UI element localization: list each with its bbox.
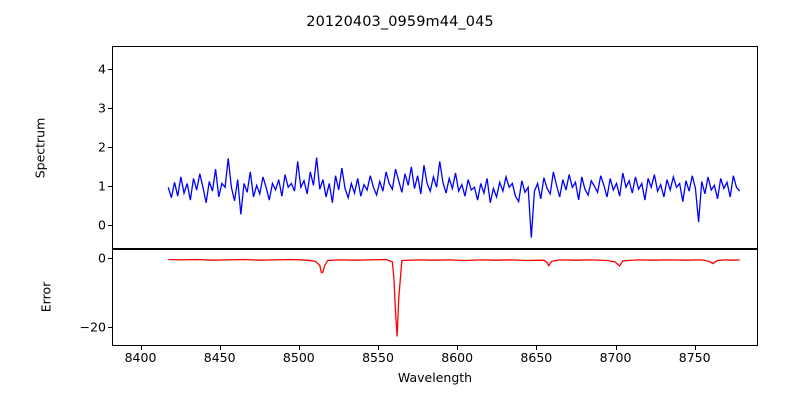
y-tick-mark	[108, 147, 112, 148]
spectrum-panel	[112, 46, 758, 249]
y-tick-label: 4	[66, 61, 106, 76]
y-tick-mark	[108, 108, 112, 109]
y-tick-label: 1	[66, 178, 106, 193]
y-tick-label: 3	[66, 100, 106, 115]
x-tick-mark	[220, 346, 221, 350]
error-axis-label: Error	[39, 282, 54, 312]
x-tick-label: 8700	[600, 350, 632, 365]
y-tick-mark	[108, 327, 112, 328]
y-tick-label: 0	[66, 250, 106, 265]
y-tick-label: 2	[66, 139, 106, 154]
figure-title: 20120403_0959m44_045	[0, 14, 800, 30]
x-tick-label: 8450	[204, 350, 236, 365]
y-tick-mark	[108, 186, 112, 187]
y-tick-mark	[108, 69, 112, 70]
y-tick-mark	[108, 225, 112, 226]
y-tick-mark	[108, 258, 112, 259]
x-tick-mark	[457, 346, 458, 350]
x-tick-mark	[141, 346, 142, 350]
error-panel	[112, 249, 758, 346]
x-tick-label: 8650	[520, 350, 552, 365]
x-tick-label: 8600	[441, 350, 473, 365]
x-tick-mark	[299, 346, 300, 350]
x-tick-label: 8750	[679, 350, 711, 365]
x-tick-label: 8550	[362, 350, 394, 365]
x-tick-mark	[536, 346, 537, 350]
spectrum-axis-label: Spectrum	[33, 118, 48, 179]
x-tick-mark	[616, 346, 617, 350]
y-tick-label: 0	[66, 217, 106, 232]
x-tick-mark	[378, 346, 379, 350]
x-axis-label: Wavelength	[398, 370, 472, 385]
x-tick-label: 8400	[125, 350, 157, 365]
error-line	[168, 260, 739, 337]
x-tick-mark	[695, 346, 696, 350]
matplotlib-figure: 20120403_0959m44_045 Spectrum Error Wave…	[0, 0, 800, 400]
spectrum-line	[168, 158, 739, 238]
y-tick-label: −20	[66, 319, 106, 334]
spectrum-plot-area	[113, 47, 757, 248]
error-plot-area	[113, 250, 757, 345]
x-tick-label: 8500	[283, 350, 315, 365]
